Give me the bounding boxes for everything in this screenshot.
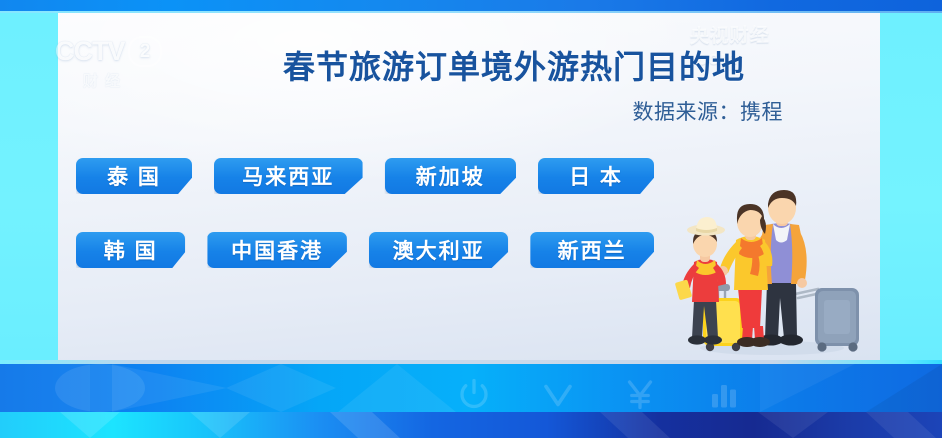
destination-chip-singapore[interactable]: 新加坡: [385, 158, 516, 194]
decor-triangle: [190, 412, 250, 438]
destination-label: 马来西亚: [242, 161, 334, 191]
cctv-channel-name: 财经: [83, 70, 185, 91]
bottom-bar-main: [0, 364, 942, 412]
destination-label: 泰 国: [107, 161, 161, 191]
decor-slash: [600, 412, 670, 438]
bottom-bar-gradient-strip: [0, 412, 942, 438]
destination-chip-australia[interactable]: 澳大利亚: [369, 232, 508, 268]
family-travelers-illustration: [672, 188, 872, 360]
cctv-logo-mark: CCTV 2: [55, 36, 185, 67]
destination-label: 新西兰: [558, 235, 627, 265]
decor-corner: [760, 364, 855, 412]
cctv-channel-number: 2: [128, 36, 162, 67]
yen-icon: [622, 376, 658, 417]
destination-chip-thailand[interactable]: 泰 国: [76, 158, 192, 194]
left-cyan-band: [0, 13, 58, 360]
destination-list: 泰 国 马来西亚 新加坡 日 本 韩 国 中国香港 澳大利亚 新西兰: [76, 158, 676, 306]
decor-chevron: [338, 364, 456, 412]
power-icon: [456, 376, 492, 417]
destination-label: 韩 国: [104, 235, 158, 265]
broadcast-screen: CCTV 2 财经 央视财经.com 春节旅游订单境外游热门目的地 数据来源：携…: [0, 0, 942, 438]
destination-label: 中国香港: [231, 235, 323, 265]
destination-row: 泰 国 马来西亚 新加坡 日 本: [76, 158, 676, 194]
destination-label: 日 本: [569, 161, 623, 191]
destination-chip-korea[interactable]: 韩 国: [76, 232, 185, 268]
cctv-logo: CCTV 2 财经: [55, 36, 185, 98]
decor-triangle: [112, 364, 227, 412]
bottom-decor-bar: [0, 360, 942, 438]
destination-chip-japan[interactable]: 日 本: [538, 158, 654, 194]
decor-corner: [866, 364, 942, 412]
destination-chip-malaysia[interactable]: 马来西亚: [214, 158, 363, 194]
right-cyan-band: [880, 13, 942, 360]
page-title: 春节旅游订单境外游热门目的地: [283, 42, 783, 88]
cctv-logo-text: CCTV: [55, 38, 125, 65]
data-source-label: 数据来源：携程: [283, 96, 783, 126]
decor-diamond: [226, 364, 336, 412]
destination-chip-hongkong[interactable]: 中国香港: [207, 232, 346, 268]
destination-row: 韩 国 中国香港 澳大利亚 新西兰: [76, 232, 676, 268]
checkmark-icon: [540, 376, 576, 417]
decor-triangle: [60, 412, 120, 438]
decor-triangle: [758, 412, 828, 438]
decor-slash: [330, 412, 400, 438]
decor-slash: [866, 412, 936, 438]
destination-chip-newzealand[interactable]: 新西兰: [530, 232, 654, 268]
destination-label: 澳大利亚: [393, 235, 485, 265]
destination-label: 新加坡: [416, 161, 485, 191]
bar-chart-icon: [706, 376, 742, 417]
